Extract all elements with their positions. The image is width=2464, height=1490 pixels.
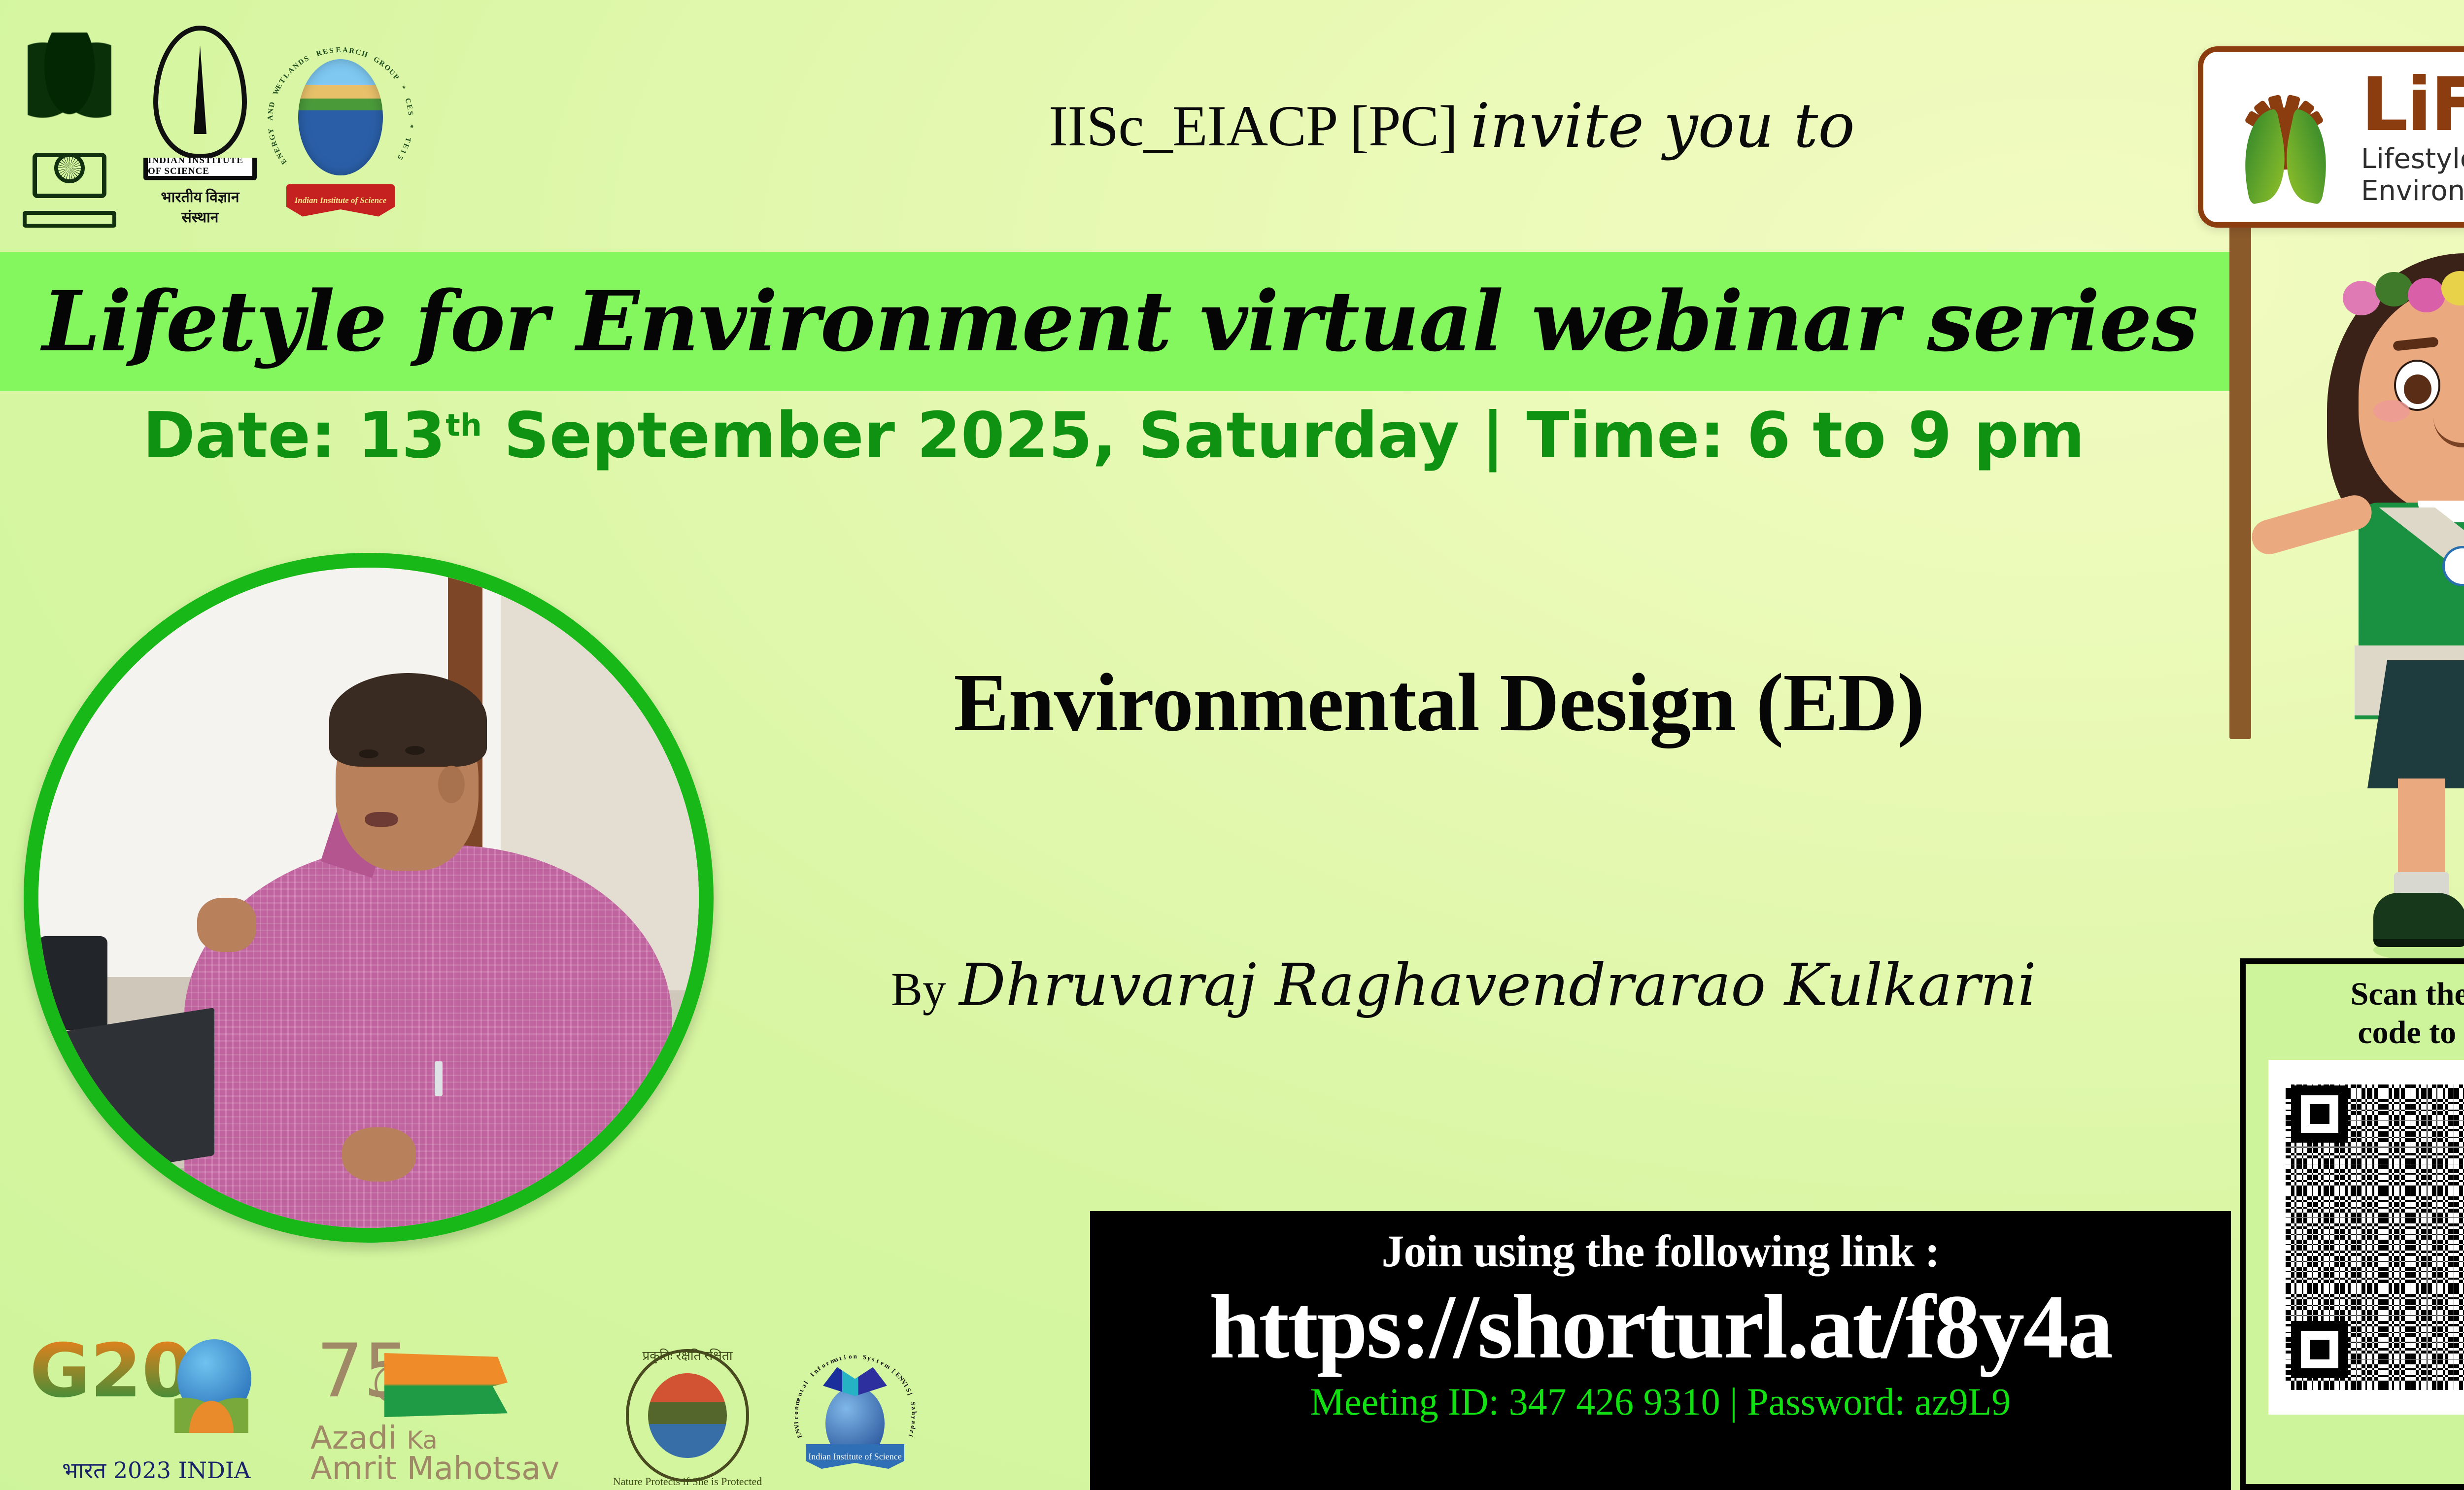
ewrg-crest-icon: ENERGY AND WETLANDS RESEARCH GROUP * CES… xyxy=(279,28,402,225)
photo-speaker-ear xyxy=(438,766,465,803)
photo-speaker-eye-right xyxy=(405,746,425,755)
date-time-line: Date: 13th September 2025, Saturday | Ti… xyxy=(0,399,2227,473)
g20-lotus-icon xyxy=(174,1380,248,1433)
life-tagline-2: Environment xyxy=(2361,177,2464,206)
qr-finder-bottom-left xyxy=(2291,1321,2348,1378)
azadi-amrit-mahotsav-logo: 75 Azadi Ka Amrit Mahotsav xyxy=(306,1334,582,1482)
life-sun-leaf-icon xyxy=(2220,70,2348,203)
qr-title-line-1: Scan the QR xyxy=(2351,976,2464,1012)
date-prefix: Date: 13 xyxy=(143,399,446,473)
header-invite-line: IISc_EIACP [PC] invite you to xyxy=(402,91,2464,162)
speaker-photo xyxy=(24,553,714,1243)
iisc-hindi-label: भारतीय विज्ञान संस्थान xyxy=(141,186,259,227)
amrit-flag-icon xyxy=(384,1353,508,1417)
photo-pocket-pen xyxy=(435,1061,443,1096)
series-title: Lifetyle for Environment virtual webinar… xyxy=(42,272,2198,370)
speaker-name: Dhruvaraj Raghavendrarao Kulkarni xyxy=(959,951,2036,1019)
footer-logo-strip: G20 भारत 2023 INDIA 75 Azadi Ka Amrit Ma… xyxy=(30,1320,917,1482)
qr-code-area[interactable]: TQRCG xyxy=(2268,1060,2464,1415)
emblem-lions xyxy=(28,33,111,146)
photo-speaker-hand-raised xyxy=(197,898,256,952)
mascot-arm-left xyxy=(2248,491,2376,558)
qr-title-line-2: code to join xyxy=(2358,1015,2464,1050)
date-rest: September 2025, Saturday | Time: 6 to 9 … xyxy=(482,399,2085,473)
g20-logo: G20 भारत 2023 INDIA xyxy=(30,1334,261,1482)
amrit-wordmark: Azadi Ka Amrit Mahotsav xyxy=(310,1423,559,1484)
webinar-poster: INDIAN INSTITUTE OF SCIENCE भारतीय विज्ञ… xyxy=(0,0,2464,1490)
state-emblem-logo xyxy=(18,20,121,232)
ashoka-chakra-icon xyxy=(54,153,85,183)
meeting-credentials: Meeting ID: 347 426 9310 | Password: az9… xyxy=(1310,1380,2011,1424)
moefcc-sanskrit-motto: प्रकृतिः रक्षति रक्षिता xyxy=(643,1346,733,1364)
mascot-flower-crown-icon xyxy=(2343,271,2464,330)
speaker-byline: By Dhruvaraj Raghavendrarao Kulkarni xyxy=(749,951,2178,1019)
iisc-crest-icon: INDIAN INSTITUTE OF SCIENCE भारतीय विज्ञ… xyxy=(141,26,259,227)
qr-card-title: Scan the QR code to join xyxy=(2351,975,2464,1052)
envis-bird-icon xyxy=(823,1365,887,1399)
envis-ribbon-label: Indian Institute of Science xyxy=(806,1444,904,1469)
amrit-line-2b: Mahotsav xyxy=(407,1451,560,1487)
moefcc-logo: प्रकृतिः रक्षति रक्षिता Nature Protects … xyxy=(626,1349,749,1482)
life-wordmark-block: LiFE Lifestyle for Environment xyxy=(2361,68,2464,206)
qr-join-card: Scan the QR code to join TQRCG xyxy=(2240,958,2464,1490)
iisc-wreath xyxy=(153,26,247,159)
life-wordmark: LiFE xyxy=(2361,68,2464,142)
life-mascot-girl xyxy=(2211,212,2464,956)
join-url-link[interactable]: https://shorturl.at/f8y4a xyxy=(1209,1281,2112,1373)
amrit-line-2: Amrit xyxy=(310,1451,397,1487)
mascot-flag-pole xyxy=(2229,212,2251,739)
g20-subtitle: भारत 2023 INDIA xyxy=(62,1455,250,1485)
life-tagline-1: Lifestyle for xyxy=(2361,145,2464,174)
join-label: Join using the following link : xyxy=(1381,1225,1939,1277)
iisc-tower-icon xyxy=(194,45,206,134)
header-logo-group: INDIAN INSTITUTE OF SCIENCE भारतीय विज्ञ… xyxy=(0,20,402,232)
ewrg-logo: ENERGY AND WETLANDS RESEARCH GROUP * CES… xyxy=(279,28,402,225)
photo-speaker-hand-lower xyxy=(342,1127,416,1182)
ewrg-ribbon-label: Indian Institute of Science xyxy=(286,184,395,217)
mascot-cheek-left xyxy=(2373,400,2410,422)
state-emblem-of-india-icon xyxy=(18,20,121,232)
life-logo-card: LiFE Lifestyle for Environment xyxy=(2198,46,2464,228)
moefcc-emblem-icon xyxy=(648,1373,727,1458)
webinar-topic-title: Environmental Design (ED) xyxy=(705,655,2173,750)
qr-finder-top-left xyxy=(2291,1085,2348,1143)
poster-header: INDIAN INSTITUTE OF SCIENCE भारतीय विज्ञ… xyxy=(0,0,2464,252)
ewrg-globe-icon xyxy=(298,59,383,175)
photo-speaker-eye-left xyxy=(359,749,378,758)
join-link-box: Join using the following link : https://… xyxy=(1090,1211,2231,1490)
mascot-pupil-left xyxy=(2404,374,2431,404)
photo-speaker-shirt xyxy=(184,845,673,1228)
photo-speaker-mouth xyxy=(365,812,398,827)
invite-verb-label: invite you to xyxy=(1471,91,1855,162)
envis-sahyadri-logo: ENVIronmental Information System [ENVIS]… xyxy=(793,1349,917,1482)
photo-chair xyxy=(38,936,107,1030)
date-ordinal: th xyxy=(445,407,482,443)
mascot-shoe-left xyxy=(2373,893,2464,947)
invite-org-label: IISc_EIACP [PC] xyxy=(1049,93,1458,160)
moefcc-english-motto: Nature Protects if She is Protected xyxy=(613,1475,762,1488)
photo-laptop xyxy=(52,1008,214,1181)
emblem-base xyxy=(23,211,116,228)
byline-prefix: By xyxy=(891,962,946,1016)
iisc-logo: INDIAN INSTITUTE OF SCIENCE भारतीय विज्ञ… xyxy=(141,26,259,227)
series-banner: Lifetyle for Environment virtual webinar… xyxy=(0,252,2240,391)
